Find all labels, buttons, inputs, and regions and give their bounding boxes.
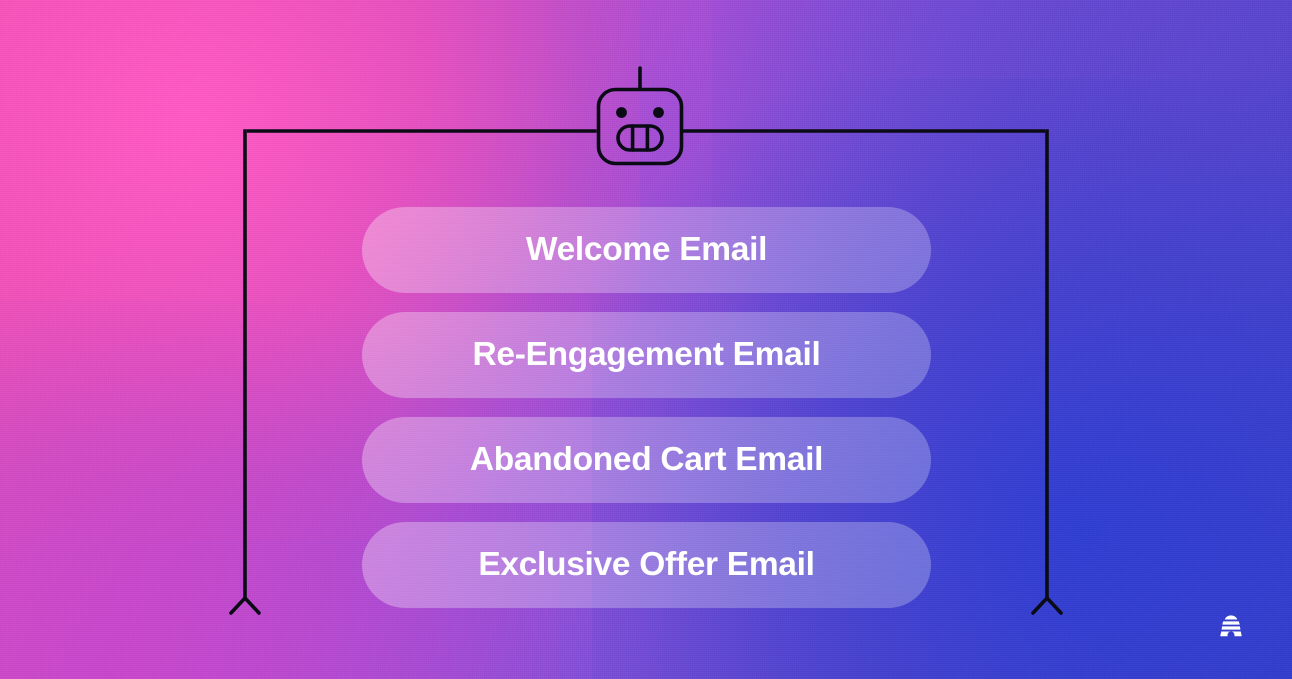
list-item[interactable]: Welcome Email (362, 207, 931, 293)
beehive-layer-2 (1222, 621, 1239, 624)
email-step-label: Welcome Email (526, 233, 767, 267)
beehive-layer-4-entrance (1220, 631, 1241, 636)
robot-eye-right (653, 107, 664, 118)
beehive-icon (1216, 612, 1246, 642)
email-step-label: Abandoned Cart Email (470, 443, 823, 477)
list-item[interactable]: Abandoned Cart Email (362, 417, 931, 503)
email-step-label: Exclusive Offer Email (478, 548, 814, 582)
beehive-layer-3 (1222, 626, 1241, 629)
list-item[interactable]: Re-Engagement Email (362, 312, 931, 398)
robot-head-icon (588, 60, 692, 168)
slide-canvas: Welcome Email Re-Engagement Email Abando… (0, 0, 1292, 679)
list-item[interactable]: Exclusive Offer Email (362, 522, 931, 608)
robot-eye-left (616, 107, 627, 118)
email-sequence-list: Welcome Email Re-Engagement Email Abando… (362, 207, 931, 608)
beehive-layer-1 (1225, 615, 1238, 619)
robot-mouth-outline (618, 126, 662, 150)
email-step-label: Re-Engagement Email (473, 338, 821, 372)
